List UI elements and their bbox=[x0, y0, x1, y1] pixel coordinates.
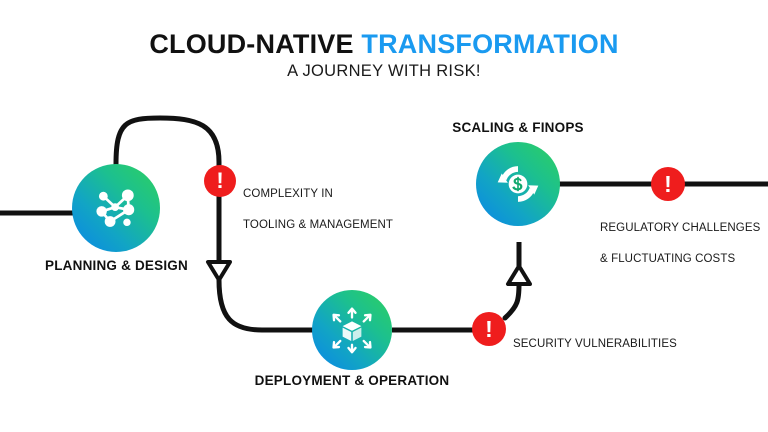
risk-badge-complexity[interactable]: ! bbox=[204, 165, 236, 197]
network-nodes-icon bbox=[89, 181, 143, 235]
cube-expand-icon bbox=[327, 305, 377, 355]
risk-security-line1: SECURITY VULNERABILITIES bbox=[513, 337, 713, 352]
node-label-planning-design: PLANNING & DESIGN bbox=[34, 258, 199, 273]
currency-recycle-icon bbox=[492, 158, 544, 210]
arrowhead-up-icon bbox=[508, 266, 530, 284]
exclamation-icon: ! bbox=[664, 173, 672, 196]
risk-label-complexity: COMPLEXITY IN TOOLING & MANAGEMENT bbox=[243, 172, 418, 248]
exclamation-icon: ! bbox=[485, 318, 493, 341]
risk-label-regulatory: REGULATORY CHALLENGES & FLUCTUATING COST… bbox=[600, 206, 768, 282]
wire-planning-to-deployment-lower bbox=[219, 280, 320, 330]
risk-badge-regulatory[interactable]: ! bbox=[651, 167, 685, 201]
risk-label-security: SECURITY VULNERABILITIES bbox=[513, 322, 713, 368]
node-label-scaling-finops: SCALING & FINOPS bbox=[443, 120, 593, 135]
risk-regulatory-line1: REGULATORY CHALLENGES bbox=[600, 221, 768, 236]
risk-complexity-line2: TOOLING & MANAGEMENT bbox=[243, 218, 418, 233]
node-deployment-operation[interactable] bbox=[312, 290, 392, 370]
risk-badge-security[interactable]: ! bbox=[472, 312, 506, 346]
node-planning-design[interactable] bbox=[72, 164, 160, 252]
node-scaling-finops[interactable] bbox=[476, 142, 560, 226]
risk-regulatory-line2: & FLUCTUATING COSTS bbox=[600, 252, 768, 267]
node-label-deployment-operation: DEPLOYMENT & OPERATION bbox=[243, 373, 461, 388]
risk-complexity-line1: COMPLEXITY IN bbox=[243, 187, 418, 202]
diagram-canvas: CLOUD-NATIVE TRANSFORMATION A JOURNEY WI… bbox=[0, 0, 768, 432]
wire-security-curve-up bbox=[505, 284, 519, 318]
arrowhead-down-icon bbox=[208, 262, 230, 280]
exclamation-icon: ! bbox=[216, 170, 223, 192]
